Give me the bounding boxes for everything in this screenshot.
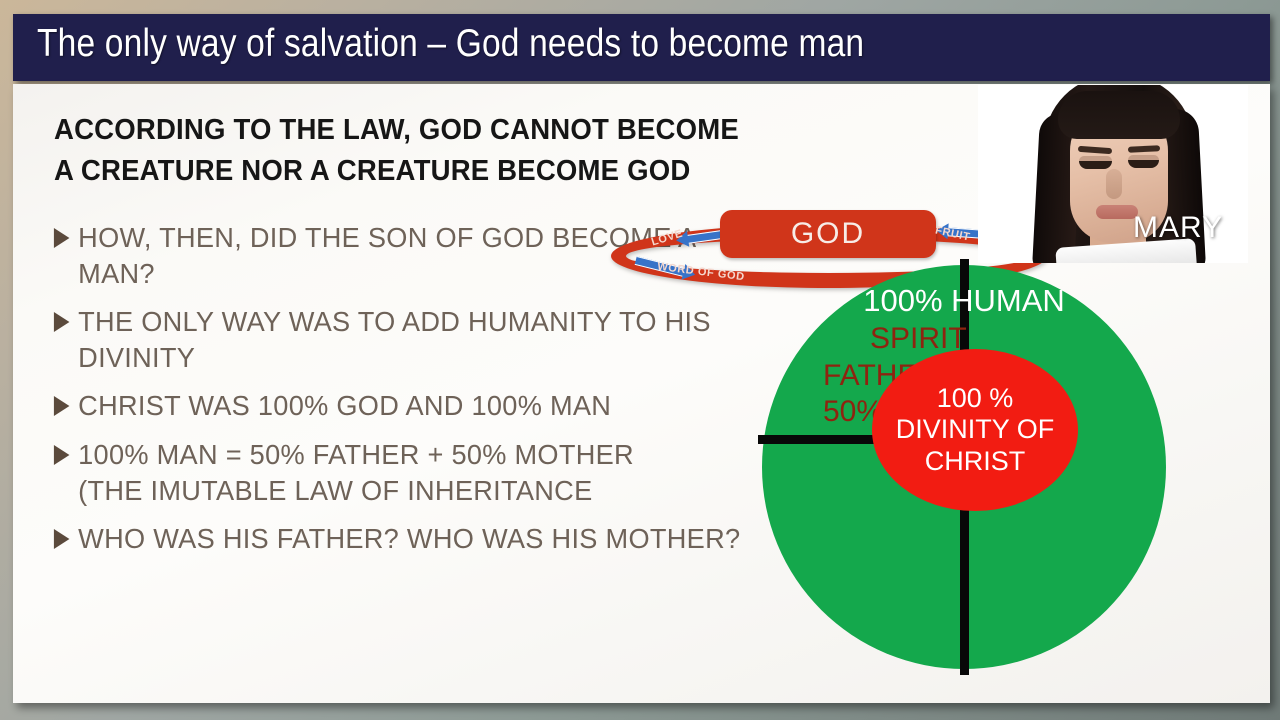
triangle-bullet-icon bbox=[54, 529, 70, 549]
bullet-text: CHRIST WAS 100% GOD AND 100% MAN bbox=[78, 388, 672, 424]
eye-right bbox=[1128, 160, 1159, 168]
slide-title-bar: The only way of salvation – God needs to… bbox=[13, 14, 1270, 81]
bullet-line: DIVINITY bbox=[78, 340, 672, 376]
bullet-line: WHO WAS HIS FATHER? WHO WAS HIS MOTHER? bbox=[78, 521, 672, 557]
bullet-line: CHRIST WAS 100% GOD AND 100% MAN bbox=[78, 388, 672, 424]
bullet-line: (THE IMUTABLE LAW OF INHERITANCE bbox=[78, 473, 672, 509]
fringe-shape bbox=[1058, 91, 1180, 139]
inner-line-1: 100 % bbox=[937, 383, 1014, 414]
inner-line-3: CHRIST bbox=[925, 446, 1026, 477]
god-box-shape: GOD bbox=[720, 210, 936, 258]
heading-line-2: A CREATURE NOR A CREATURE BECOME GOD bbox=[54, 151, 624, 192]
triangle-bullet-icon bbox=[54, 445, 70, 465]
triangle-bullet-icon bbox=[54, 228, 70, 248]
inner-line-2: DIVINITY OF bbox=[896, 414, 1055, 445]
triangle-bullet-icon bbox=[54, 312, 70, 332]
label-100-percent-human: 100% HUMAN bbox=[762, 283, 1166, 319]
bullet-text: WHO WAS HIS FATHER? WHO WAS HIS MOTHER? bbox=[78, 521, 672, 557]
heading-line-1: ACCORDING TO THE LAW, GOD CANNOT BECOME bbox=[54, 110, 624, 151]
bullet-text: THE ONLY WAY WAS TO ADD HUMANITY TO HIS … bbox=[78, 304, 672, 376]
list-item: CHRIST WAS 100% GOD AND 100% MAN bbox=[51, 388, 672, 424]
page-title: The only way of salvation – God needs to… bbox=[37, 22, 864, 66]
lips-shape bbox=[1096, 205, 1138, 219]
triangle-bullet-icon bbox=[54, 396, 70, 416]
bullet-line: THE ONLY WAY WAS TO ADD HUMANITY TO HIS bbox=[78, 304, 672, 340]
mary-caption: MARY bbox=[1133, 211, 1223, 245]
bullet-line: HOW, THEN, DID THE SON OF GOD BECOME A bbox=[78, 220, 672, 256]
human-divinity-circle-diagram: 100% HUMAN SPIRIT FATHER 50% 100 % DIVIN… bbox=[762, 265, 1166, 669]
red-inner-ellipse: 100 % DIVINITY OF CHRIST bbox=[872, 349, 1078, 511]
list-item: WHO WAS HIS FATHER? WHO WAS HIS MOTHER? bbox=[51, 521, 672, 557]
slide-body: ACCORDING TO THE LAW, GOD CANNOT BECOME … bbox=[13, 84, 1270, 703]
mary-photo: MARY bbox=[978, 85, 1248, 263]
bullet-line: 100% MAN = 50% FATHER + 50% MOTHER bbox=[78, 437, 672, 473]
bullet-text: 100% MAN = 50% FATHER + 50% MOTHER (THE … bbox=[78, 437, 672, 509]
list-item: THE ONLY WAY WAS TO ADD HUMANITY TO HIS … bbox=[51, 304, 672, 376]
slide-root: The only way of salvation – God needs to… bbox=[0, 0, 1280, 720]
eye-left bbox=[1079, 161, 1112, 169]
god-label: GOD bbox=[720, 210, 936, 258]
bullet-list: HOW, THEN, DID THE SON OF GOD BECOME A M… bbox=[51, 220, 691, 569]
bullet-text: HOW, THEN, DID THE SON OF GOD BECOME A M… bbox=[78, 220, 672, 292]
list-item: 100% MAN = 50% FATHER + 50% MOTHER (THE … bbox=[51, 437, 672, 509]
bullet-line: MAN? bbox=[78, 256, 672, 292]
list-item: HOW, THEN, DID THE SON OF GOD BECOME A M… bbox=[51, 220, 672, 292]
nose-shape bbox=[1106, 169, 1122, 199]
slide-heading: ACCORDING TO THE LAW, GOD CANNOT BECOME … bbox=[54, 110, 624, 192]
